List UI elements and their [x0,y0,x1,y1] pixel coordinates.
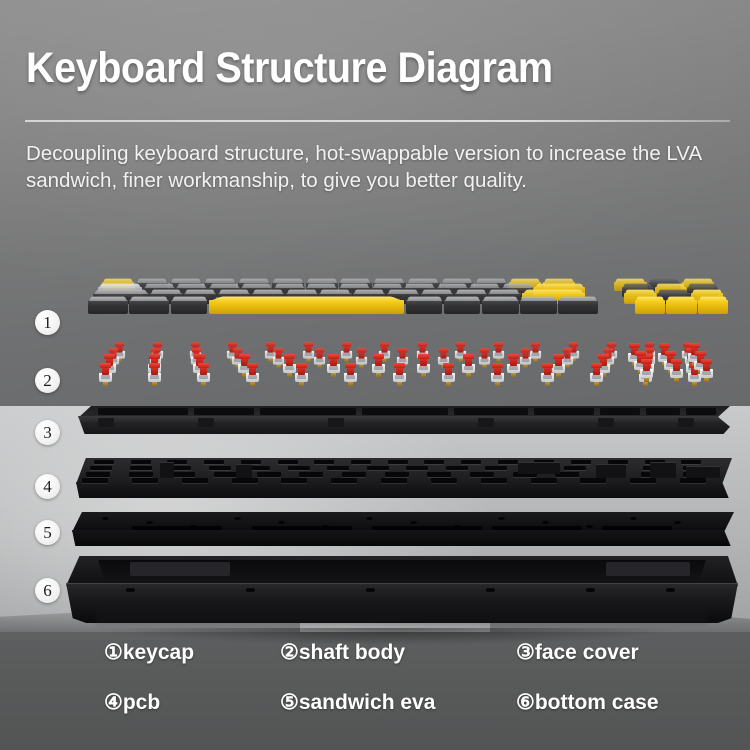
switch-stem-cap [604,348,613,352]
switch-stem-cap [665,351,676,356]
pcb-switch-cutout [388,460,408,464]
legend-marker: ⑥ [516,691,535,714]
legend-marker: ② [280,641,299,664]
pcb-switch-cutout [481,478,507,483]
keycap [129,300,169,314]
switch-stem-cap [239,354,250,359]
switch-stem-cap [418,354,429,359]
switch-stem-cap [659,343,670,348]
switch-stem-cap [635,351,646,356]
mechanical-switch [303,341,314,358]
eva-vent-hole [542,521,549,524]
pcb-switch-cutout [367,466,389,470]
eva-front-edge [72,530,734,546]
face-cover-standoff [198,418,214,427]
switch-stem-cap [553,354,564,359]
pcb-switch-cutout [130,466,152,470]
layer-4-pcb [76,458,732,502]
switch-stem-cap [345,363,356,368]
eva-vent-hole [102,517,109,520]
bottom-case-screw-hole [126,588,135,592]
face-cover-standoff [98,418,114,427]
pcb-switch-cutout [580,478,606,483]
face-cover-standoff [678,418,694,427]
callout-number-1: 1 [35,310,60,335]
switch-stem-cap [328,354,339,359]
face-cover-standoff [328,418,344,427]
keycap [171,300,208,314]
switch-stem-cap [418,342,427,346]
switch-stem-cap [398,348,407,352]
switch-stem-cap [645,342,654,346]
legend-marker: ⑤ [280,691,299,714]
legend-item-shaft-body: ②shaft body [280,640,405,665]
pcb-switch-cutout [94,460,114,464]
callout-number-4: 4 [35,474,60,499]
pcb-switch-cutout [281,478,307,483]
switch-stem-cap [394,363,405,368]
mechanical-switch [341,341,352,358]
face-cover-slot [260,408,356,415]
bottom-case-screw-hole [666,588,675,592]
switch-stem-cap [629,343,640,348]
mechanical-switch [442,362,455,382]
switch-stem-cap [192,348,201,352]
pcb-stabilizer-mount [160,462,174,478]
mechanical-switch [99,362,112,382]
bottom-case-reflection [96,604,708,624]
keycap [558,300,598,314]
pcb-switch-cutout [331,478,357,483]
title-divider [25,120,730,122]
pcb-switch-cutout [342,472,366,477]
pcb-switch-cutout [485,466,507,470]
pcb-switch-cutout [327,466,349,470]
switch-stem-cap [492,363,503,368]
mechanical-switch [670,358,683,378]
switch-stem-cap [562,348,571,352]
pcb-stabilizer-mount [596,464,626,478]
eva-vent-hole [410,521,417,524]
switch-stem-cap [149,363,160,368]
mechanical-switch [283,353,296,373]
pcb-switch-cutout [86,472,110,477]
mechanical-switch [393,362,406,382]
pcb-switch-cutout [531,478,557,483]
mechanical-switch [314,347,325,364]
eva-cutout [132,526,222,530]
pcb-switch-cutout [630,478,656,483]
switch-stem-cap [315,348,324,352]
switch-stem-cap [480,348,489,352]
pcb-switch-cutout [204,460,224,464]
mechanical-switch [520,347,531,364]
callout-number-6: 6 [35,578,60,603]
keycap [406,300,443,314]
eva-vent-hole [278,521,285,524]
switch-stem-cap [508,354,519,359]
face-cover-slot [646,408,680,415]
keycap [444,300,481,314]
pcb-switch-cutout [381,478,407,483]
switch-stem-cap [152,342,161,346]
pcb-stabilizer-mount [236,464,252,478]
switch-stem-cap [689,343,700,348]
switch-stem-cap [591,363,602,368]
pcb-switch-cutout [171,472,195,477]
keycap [635,300,665,314]
switch-stem-cap [284,354,295,359]
eva-cutout [252,526,352,530]
switch-stem-cap [190,342,199,346]
callout-number-3: 3 [35,420,60,445]
switch-stem-cap [493,342,502,346]
switch-stem-cap [463,354,474,359]
switch-stem-cap [701,359,712,364]
eva-cutout [602,526,672,530]
pcb-switch-cutout [424,460,444,464]
legend-panel: ①keycap②shaft body③face cover④pcb⑤sandwi… [0,632,750,750]
keycap [209,300,404,314]
pcb-switch-cutout [681,460,701,464]
eva-vent-hole [586,525,593,528]
eva-vent-hole [146,521,153,524]
pcb-switch-cutout [314,460,334,464]
legend-label: sandwich eva [299,691,436,714]
pcb-stabilizer-mount [650,462,676,478]
switch-stem-cap [149,354,160,359]
pcb-switch-cutout [209,466,231,470]
layer-3-face-cover [78,406,730,440]
switch-stem-cap [304,342,313,346]
switch-stem-cap [233,348,242,352]
switch-stem-cap [266,342,275,346]
switch-stem-cap [598,354,609,359]
switch-stem-cap [373,354,384,359]
switch-stem-cap [695,351,706,356]
pcb-switch-cutout [564,466,586,470]
mechanical-switch [372,353,385,373]
face-cover-standoff [598,418,614,427]
pcb-switch-cutout [498,460,518,464]
pcb-switch-cutout [214,472,238,477]
switch-stem-cap [455,342,464,346]
legend-label: bottom case [535,691,659,714]
keycap [88,300,128,314]
pcb-switch-cutout [571,460,591,464]
pcb-switch-cutout [299,472,323,477]
bottom-case-screw-hole [486,588,495,592]
mechanical-switch [148,362,161,382]
switch-stem-cap [342,342,351,346]
legend-marker: ③ [516,641,535,664]
switch-stem-cap [569,342,578,346]
pcb-switch-cutout [406,466,428,470]
callout-number-5: 5 [35,520,60,545]
pcb-switch-cutout [131,460,151,464]
face-cover-slot [534,408,594,415]
pcb-switch-cutout [427,472,451,477]
page-subtitle: Decoupling keyboard structure, hot-swapp… [26,140,706,194]
keycap [698,300,728,314]
legend-label: shaft body [299,641,405,664]
switch-stem-cap [150,348,159,352]
switch-stem-cap [104,354,115,359]
switch-stem-cap [274,348,283,352]
bottom-case-screw-hole [586,588,595,592]
mechanical-switch [590,362,603,382]
legend-label: keycap [123,641,194,664]
switch-stem-cap [671,359,682,364]
pcb-switch-cutout [82,478,108,483]
switch-stem-cap [531,342,540,346]
mechanical-switch [507,353,520,373]
mechanical-switch [640,358,653,378]
mechanical-switch [530,341,541,358]
eva-vent-hole [498,517,505,520]
switch-stem-cap [521,348,530,352]
pcb-switch-cutout [385,472,409,477]
legend-item-pcb: ④pcb [104,690,160,715]
mechanical-switch [197,362,210,382]
pcb-switch-cutout [351,460,371,464]
mechanical-switch [295,362,308,382]
pcb-switch-cutout [680,478,706,483]
eva-cutout [372,526,482,530]
pcb-switch-cutout [288,466,310,470]
eva-vent-hole [234,517,241,520]
legend-item-bottom-case: ⑥bottom case [516,690,659,715]
switch-stem-cap [296,363,307,368]
switch-stem-cap [356,348,365,352]
legend-marker: ① [104,641,123,664]
bottom-case-screw-hole [366,588,375,592]
eva-vent-hole [674,521,681,524]
infographic-canvas: Keyboard Structure Diagram Decoupling ke… [0,0,750,750]
face-cover-slot [362,408,448,415]
mechanical-switch [462,353,475,373]
legend-item-sandwich-eva: ⑤sandwich eva [280,690,435,715]
bottom-case-mount-pad [606,562,690,576]
pcb-switch-cutout [232,478,258,483]
mechanical-switch [491,362,504,382]
pcb-stabilizer-mount [686,466,720,478]
pcb-switch-cutout [470,472,494,477]
keycap [520,300,557,314]
layer-2-shaft-body-switches [90,340,728,390]
pcb-switch-cutout [132,478,158,483]
pcb-switch-cutout [278,460,298,464]
pcb-front-edge [76,482,732,498]
mechanical-switch [700,358,713,378]
mechanical-switch [541,362,554,382]
mechanical-switch [492,341,503,358]
legend-item-face-cover: ③face cover [516,640,639,665]
legend-label: face cover [535,641,639,664]
legend-marker: ④ [104,691,123,714]
mechanical-switch [327,353,340,373]
switch-stem-cap [641,359,652,364]
pcb-switch-cutout [129,472,153,477]
page-title: Keyboard Structure Diagram [26,44,553,93]
bottom-case-mount-pad [130,562,230,576]
face-cover-front [78,416,730,434]
bottom-case-screw-hole [246,588,255,592]
face-cover-slot [454,408,528,415]
switch-stem-cap [380,342,389,346]
mechanical-switch [344,362,357,382]
face-cover-standoff [478,418,494,427]
switch-stem-cap [109,348,118,352]
mechanical-switch [417,353,430,373]
keycap [482,300,519,314]
pcb-switch-cutout [446,466,468,470]
pcb-switch-cutout [182,478,208,483]
switch-stem-cap [542,363,553,368]
legend-label: pcb [123,691,160,714]
mechanical-switch [479,347,490,364]
mechanical-switch [552,353,565,373]
switch-stem-cap [198,363,209,368]
switch-stem-cap [439,348,448,352]
pcb-switch-cutout [431,478,457,483]
eva-cutout [492,526,582,530]
face-cover-slot [686,408,716,415]
layer-1-keycaps [88,272,730,332]
keycap [666,300,696,314]
switch-stem-cap [607,342,616,346]
eva-vent-hole [366,517,373,520]
switch-stem-cap [247,363,258,368]
pcb-stabilizer-mount [518,462,560,474]
callout-number-2: 2 [35,368,60,393]
pcb-switch-cutout [461,460,481,464]
legend-item-keycap: ①keycap [104,640,194,665]
face-cover-slot [600,408,640,415]
switch-stem-cap [443,363,454,368]
eva-vent-hole [630,517,637,520]
mechanical-switch [246,362,259,382]
face-cover-slot [194,408,254,415]
face-cover-slot [98,408,188,415]
switch-stem-cap [228,342,237,346]
layer-5-sandwich-eva [72,512,734,552]
pcb-switch-cutout [257,472,281,477]
switch-stem-cap [100,363,111,368]
switch-stem-cap [115,342,124,346]
switch-stem-cap [194,354,205,359]
pcb-switch-cutout [90,466,112,470]
